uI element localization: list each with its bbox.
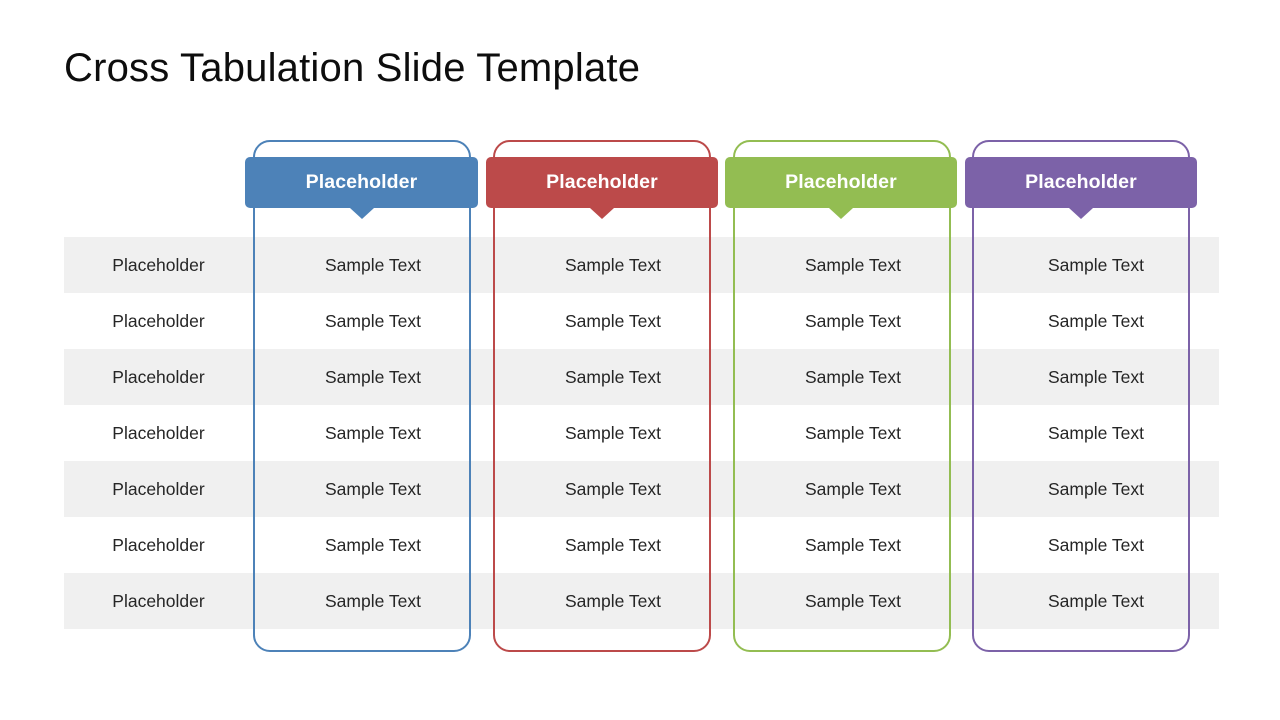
row-label: Placeholder [64,349,253,405]
row-label: Placeholder [64,237,253,293]
chevron-down-icon [829,208,853,219]
row-label: Placeholder [64,461,253,517]
chevron-down-icon [590,208,614,219]
column-header-1[interactable]: Placeholder [245,157,478,208]
page-title: Cross Tabulation Slide Template [64,42,640,94]
column-header-4[interactable]: Placeholder [965,157,1197,208]
row-label: Placeholder [64,573,253,629]
row-label: Placeholder [64,293,253,349]
column-header-label: Placeholder [785,171,897,193]
slide-canvas: Cross Tabulation Slide Template Placehol… [0,0,1280,720]
column-header-label: Placeholder [546,171,658,193]
row-label: Placeholder [64,405,253,461]
column-header-2[interactable]: Placeholder [486,157,718,208]
row-label: Placeholder [64,517,253,573]
column-header-3[interactable]: Placeholder [725,157,957,208]
column-header-label: Placeholder [1025,171,1137,193]
chevron-down-icon [350,208,374,219]
column-header-label: Placeholder [306,171,418,193]
chevron-down-icon [1069,208,1093,219]
